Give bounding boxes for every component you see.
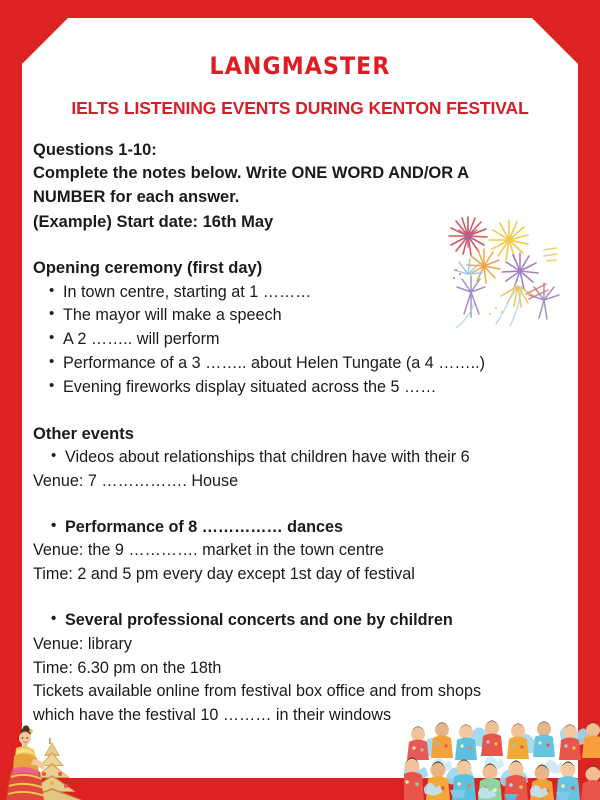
dances-list: Performance of 8 …………… dances [33, 516, 566, 540]
example-line: (Example) Start date: 16th May [33, 210, 566, 234]
spacer [33, 400, 566, 422]
spacer [33, 587, 566, 609]
list-item: The mayor will make a speech [33, 304, 566, 328]
section-heading-opening-ceremony: Opening ceremony (first day) [33, 256, 566, 280]
tickets-line-2: which have the festival 10 ……… in their … [33, 704, 566, 728]
list-item: Performance of 8 …………… dances [33, 516, 566, 540]
brand-logo: LANGMASTER [44, 52, 556, 80]
list-item: Performance of a 3 …….. about Helen Tung… [33, 352, 566, 376]
time-line: Time: 2 and 5 pm every day except 1st da… [33, 563, 566, 587]
list-item: A 2 …….. will perform [33, 328, 566, 352]
other-events-list: Videos about relationships that children… [33, 446, 566, 470]
worksheet-card: LANGMASTER IELTS LISTENING EVENTS DURING… [22, 18, 578, 778]
list-item: In town centre, starting at 1 ……… [33, 281, 566, 305]
venue-line: Venue: library [33, 633, 566, 657]
spacer [33, 234, 566, 256]
section-heading-other-events: Other events [33, 422, 566, 446]
page-title: IELTS LISTENING EVENTS DURING KENTON FES… [22, 98, 578, 119]
list-item: Evening fireworks display situated acros… [33, 376, 566, 400]
worksheet-body: Questions 1-10: Complete the notes below… [22, 138, 578, 728]
spacer [33, 494, 566, 516]
time-line: Time: 6.30 pm on the 18th [33, 657, 566, 681]
instructions-line-2: NUMBER for each answer. [33, 186, 566, 210]
venue-line: Venue: 7 ……………. House [33, 470, 566, 494]
concerts-list: Several professional concerts and one by… [33, 609, 566, 633]
tickets-line-1: Tickets available online from festival b… [33, 680, 566, 704]
list-item: Videos about relationships that children… [33, 446, 566, 470]
questions-heading: Questions 1-10: [33, 138, 566, 162]
instructions-line-1: Complete the notes below. Write ONE WORD… [33, 162, 566, 186]
opening-ceremony-list: In town centre, starting at 1 ……… The ma… [33, 281, 566, 400]
page-background: LANGMASTER IELTS LISTENING EVENTS DURING… [0, 0, 600, 800]
list-item: Several professional concerts and one by… [33, 609, 566, 633]
venue-line: Venue: the 9 …………. market in the town ce… [33, 539, 566, 563]
